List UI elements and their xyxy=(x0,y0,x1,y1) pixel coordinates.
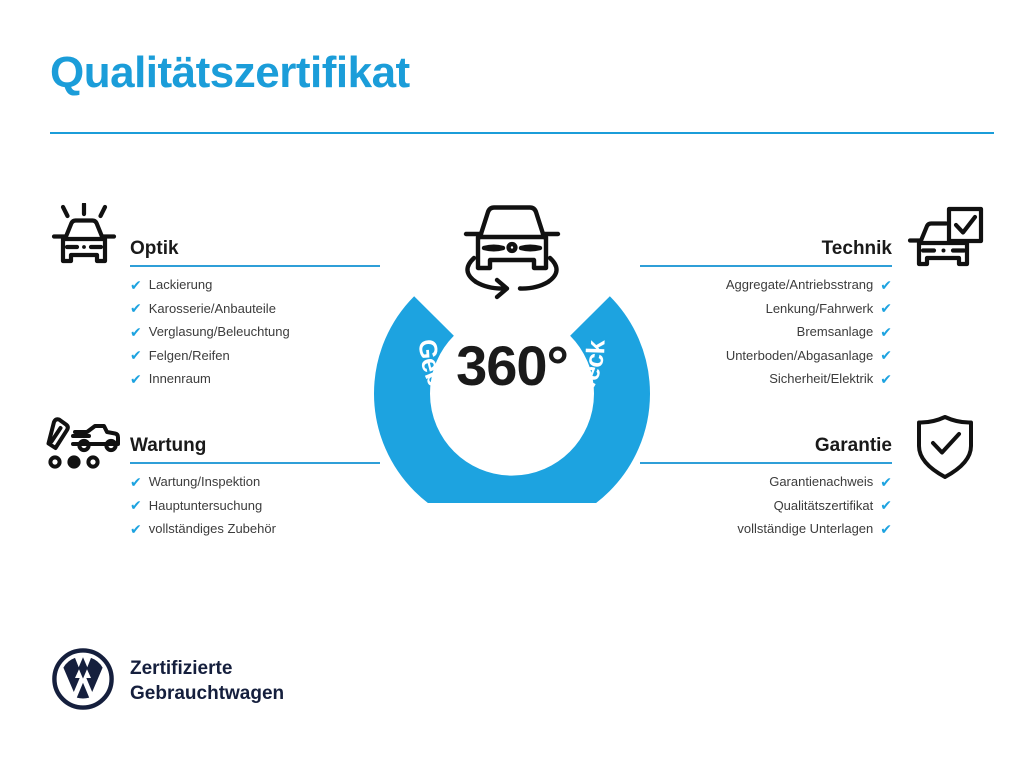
list-item-label: Sicherheit/Elektrik xyxy=(769,372,873,385)
vw-footer-line2: Gebrauchtwagen xyxy=(130,682,284,706)
car-service-tool-icon xyxy=(45,414,125,483)
checklist-optik: ✔ Lackierung ✔ Karosserie/Anbauteile ✔ V… xyxy=(130,278,380,386)
car-front-checkbox-icon xyxy=(906,203,986,280)
list-item: Unterboden/Abgasanlage ✔ xyxy=(640,348,892,362)
checklist-wartung: ✔ Wartung/Inspektion ✔ Hauptuntersuchung… xyxy=(130,475,380,536)
section-wartung: Wartung ✔ Wartung/Inspektion ✔ Hauptunte… xyxy=(130,435,380,545)
section-heading-wartung: Wartung xyxy=(130,435,380,462)
check-icon: ✔ xyxy=(880,301,892,315)
section-underline-technik xyxy=(640,265,892,267)
page-title: Qualitätszertifikat xyxy=(50,50,410,96)
list-item-label: vollständiges Zubehör xyxy=(149,522,276,535)
list-item: Bremsanlage ✔ xyxy=(640,325,892,339)
section-heading-optik: Optik xyxy=(130,238,380,265)
list-item: ✔ Verglasung/Beleuchtung xyxy=(130,325,380,339)
vw-footer-text: Zertifizierte Gebrauchtwagen xyxy=(130,657,284,706)
list-item-label: Aggregate/Antriebsstrang xyxy=(726,278,873,291)
check-icon: ✔ xyxy=(130,372,142,386)
list-item: ✔ Felgen/Reifen xyxy=(130,348,380,362)
badge-number: 360° xyxy=(372,338,652,394)
check-icon: ✔ xyxy=(130,498,142,512)
checklist-technik: Aggregate/Antriebsstrang ✔ Lenkung/Fahrw… xyxy=(640,278,892,386)
list-item-label: Innenraum xyxy=(149,372,211,385)
check-icon: ✔ xyxy=(130,301,142,315)
list-item: ✔ Innenraum xyxy=(130,372,380,386)
list-item-label: Verglasung/Beleuchtung xyxy=(149,325,290,338)
list-item-label: Qualitätszertifikat xyxy=(774,499,874,512)
vw-footer-logo-block: Zertifizierte Gebrauchtwagen xyxy=(52,648,284,715)
check-icon: ✔ xyxy=(880,348,892,362)
check-icon: ✔ xyxy=(880,522,892,536)
check-icon: ✔ xyxy=(880,372,892,386)
360-check-badge: Gebrauchtwagen-Check 360° xyxy=(372,193,652,503)
list-item: ✔ Wartung/Inspektion xyxy=(130,475,380,489)
list-item: ✔ Karosserie/Anbauteile xyxy=(130,301,380,315)
list-item-label: Lenkung/Fahrwerk xyxy=(766,302,874,315)
list-item: ✔ Hauptuntersuchung xyxy=(130,498,380,512)
section-underline-wartung xyxy=(130,462,380,464)
section-heading-technik: Technik xyxy=(640,238,892,265)
section-technik: Technik Aggregate/Antriebsstrang ✔ Lenku… xyxy=(640,238,892,395)
list-item-label: Karosserie/Anbauteile xyxy=(149,302,276,315)
list-item: ✔ Lackierung xyxy=(130,278,380,292)
section-heading-garantie: Garantie xyxy=(640,435,892,462)
checklist-garantie: Garantienachweis ✔ Qualitätszertifikat ✔… xyxy=(640,475,892,536)
list-item-label: Bremsanlage xyxy=(797,325,874,338)
check-icon: ✔ xyxy=(130,475,142,489)
shield-check-icon xyxy=(914,413,976,488)
section-underline-optik xyxy=(130,265,380,267)
list-item: Lenkung/Fahrwerk ✔ xyxy=(640,301,892,315)
car-front-shine-icon xyxy=(45,203,123,280)
list-item: Sicherheit/Elektrik ✔ xyxy=(640,372,892,386)
check-icon: ✔ xyxy=(880,325,892,339)
section-garantie: Garantie Garantienachweis ✔ Qualitätszer… xyxy=(640,435,892,545)
certificate-page: Qualitätszertifikat Optik ✔ xyxy=(0,0,1024,768)
list-item: Garantienachweis ✔ xyxy=(640,475,892,489)
vw-footer-line1: Zertifizierte xyxy=(130,657,284,681)
check-icon: ✔ xyxy=(130,278,142,292)
section-optik: Optik ✔ Lackierung ✔ Karosserie/Anbautei… xyxy=(130,238,380,395)
list-item-label: Hauptuntersuchung xyxy=(149,499,262,512)
check-icon: ✔ xyxy=(130,325,142,339)
list-item-label: Lackierung xyxy=(149,278,213,291)
check-icon: ✔ xyxy=(880,498,892,512)
list-item: Qualitätszertifikat ✔ xyxy=(640,498,892,512)
check-icon: ✔ xyxy=(880,278,892,292)
list-item-label: Felgen/Reifen xyxy=(149,349,230,362)
list-item-label: Wartung/Inspektion xyxy=(149,475,261,488)
list-item: vollständige Unterlagen ✔ xyxy=(640,522,892,536)
list-item: ✔ vollständiges Zubehör xyxy=(130,522,380,536)
section-underline-garantie xyxy=(640,462,892,464)
list-item: Aggregate/Antriebsstrang ✔ xyxy=(640,278,892,292)
check-icon: ✔ xyxy=(130,522,142,536)
list-item-label: Unterboden/Abgasanlage xyxy=(726,349,873,362)
check-icon: ✔ xyxy=(130,348,142,362)
check-icon: ✔ xyxy=(880,475,892,489)
title-divider xyxy=(50,132,994,134)
list-item-label: vollständige Unterlagen xyxy=(737,522,873,535)
vw-logo xyxy=(52,648,114,715)
list-item-label: Garantienachweis xyxy=(769,475,873,488)
